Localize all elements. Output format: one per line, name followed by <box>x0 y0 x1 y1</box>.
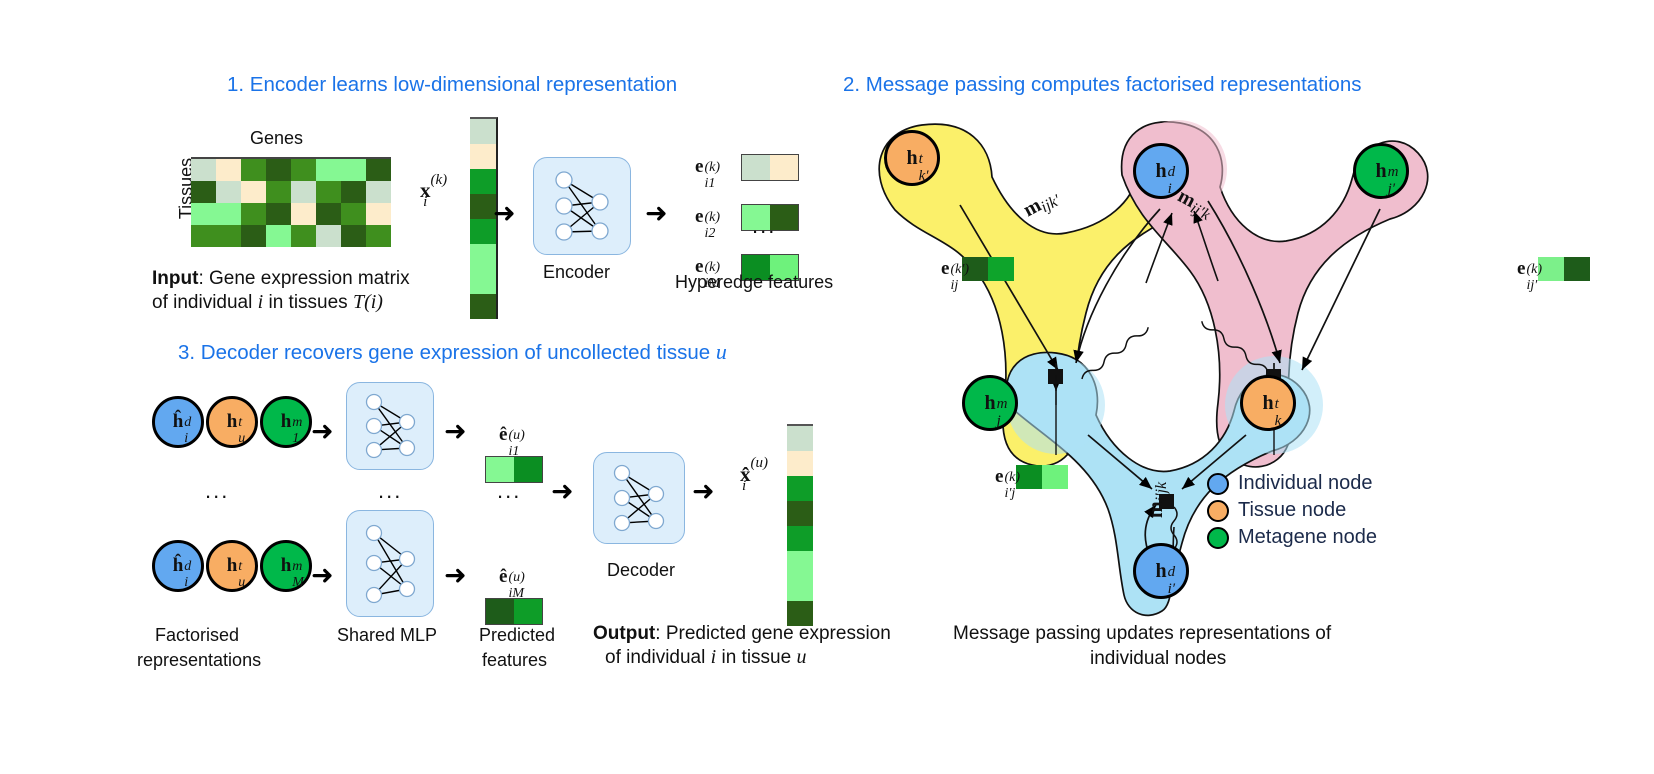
edge-feature-1: e(k)ij′ <box>1517 257 1590 281</box>
message-label-iprime-jk: mi′jk <box>1145 482 1168 518</box>
math-sup: t <box>238 415 242 431</box>
math-label: ĥdi <box>173 555 184 577</box>
math-base: h <box>227 555 238 576</box>
math-base: h <box>1155 560 1166 582</box>
factorised-label-line1: Factorised <box>155 625 239 646</box>
output-vector-label: x̂(u)i <box>740 462 772 487</box>
legend-swatch-2 <box>1207 527 1229 549</box>
input-vector-sub: i <box>423 194 427 211</box>
math-sup: m <box>292 559 302 575</box>
input-caption-line1: Input: Gene expression matrix <box>152 268 410 290</box>
output-vector-cell <box>787 426 813 451</box>
math-base: e <box>695 206 703 227</box>
input-caption-line2: of individual i in tissues T(i) <box>152 291 383 314</box>
input-vector-cell <box>470 169 496 194</box>
matrix-cell <box>291 181 316 203</box>
math-sub: ij <box>950 278 958 294</box>
decoder-node-d-i: ĥdi <box>152 540 204 592</box>
math-base: h <box>281 555 292 576</box>
math-base: ê <box>499 424 507 445</box>
gene-expression-matrix <box>191 157 391 247</box>
math-sub: i <box>184 431 188 447</box>
matrix-cell <box>266 159 291 181</box>
hyperedge-label-1: e(k)i1 <box>695 156 729 178</box>
matrix-cell <box>341 225 366 247</box>
output-caption-l2b: in tissue <box>721 647 791 668</box>
math-sup: m <box>997 396 1008 413</box>
math-base: ĥ <box>173 555 184 576</box>
matrix-cell <box>216 225 241 247</box>
edge-feature-label-2: e(k)i′j <box>995 466 1003 488</box>
arrow-row1-to-mlp: ➜ <box>311 418 334 445</box>
math-sub: i′j <box>1004 486 1015 502</box>
edge-feature-cell <box>1564 257 1590 281</box>
predicted-features-row-1: ê(u)i1 <box>485 424 543 483</box>
edge-feature-vector-1 <box>1538 257 1590 281</box>
matrix-cell <box>241 181 266 203</box>
edge-feature-vector-2 <box>1016 465 1068 489</box>
decoder-node-t-u: htu <box>206 396 258 448</box>
matrix-cell <box>266 225 291 247</box>
input-caption-l2b: in tissues <box>268 292 347 313</box>
decoder-node-m-1: hm1 <box>260 396 312 448</box>
math-sup: (k) <box>1526 262 1542 278</box>
math-label: hdi <box>1155 160 1166 183</box>
output-vector-cell <box>787 501 813 526</box>
panel-2-caption-line2: individual nodes <box>1090 648 1226 670</box>
math-base: h <box>1375 160 1386 182</box>
node-metagene-j: hmj <box>962 375 1018 431</box>
panel-3-title-var: u <box>716 339 727 364</box>
matrix-cell <box>241 225 266 247</box>
math-sup: (u) <box>508 428 524 444</box>
matrix-cell <box>216 159 241 181</box>
math-sup: (k′) <box>950 262 969 278</box>
input-caption-bold: Input <box>152 268 198 289</box>
input-vector-label: x(k)i <box>420 178 451 203</box>
math-label: htu <box>227 555 238 577</box>
math-sup: m <box>1388 164 1399 181</box>
math-sup: d <box>184 559 191 575</box>
math-base: ê <box>499 566 507 587</box>
edge-feature-label-0: e(k′)ij <box>941 258 949 280</box>
math-sub: u <box>238 575 245 591</box>
math-base: e <box>1517 258 1525 279</box>
math-sub: i2 <box>704 226 715 242</box>
math-sup: t <box>1275 396 1279 413</box>
matrix-cell <box>216 203 241 225</box>
math-sub: i1 <box>508 444 519 460</box>
hyperedge-ellipsis: ... <box>752 213 776 239</box>
msg2-sub: i′jk <box>1153 482 1170 502</box>
matrix-cell <box>216 181 241 203</box>
arrow-mlp-to-pred-1: ➜ <box>444 418 467 445</box>
math-sup: (k) <box>704 160 720 176</box>
math-base: h <box>906 147 917 169</box>
hyperedge-features-group: e(k)i1e(k)i2e(k)iM <box>695 142 799 292</box>
math-sup: t <box>238 559 242 575</box>
hyperedge-cell <box>770 155 798 180</box>
math-label: htk <box>1262 392 1273 415</box>
decoder-node-t-u: htu <box>206 540 258 592</box>
matrix-cell <box>191 225 216 247</box>
matrix-cell <box>316 225 341 247</box>
math-sub: u <box>238 431 245 447</box>
output-vector-cell <box>787 576 813 601</box>
matrix-cell <box>191 159 216 181</box>
math-sub: k <box>1275 413 1282 430</box>
shared-mlp-box-row-1 <box>346 382 434 470</box>
math-sup: d <box>184 415 191 431</box>
math-base: e <box>695 156 703 177</box>
math-sup: (k) <box>704 210 720 226</box>
arrow-row2-to-mlp: ➜ <box>311 562 334 589</box>
matrix-cell <box>291 225 316 247</box>
legend-item-2: Metagene node <box>1207 524 1377 551</box>
decoder-pred-ellipsis: ... <box>497 478 521 504</box>
matrix-cell <box>316 203 341 225</box>
encoder-mlp-box <box>533 157 631 255</box>
shared-mlp-box-row-2 <box>346 510 434 617</box>
math-sup: (u) <box>508 570 524 586</box>
output-vector-cell <box>787 476 813 501</box>
figure-canvas: 1. Encoder learns low-dimensional repres… <box>0 0 1654 774</box>
math-sub: i1 <box>704 176 715 192</box>
output-caption-u: u <box>796 646 806 668</box>
shared-mlp-label: Shared MLP <box>337 625 437 646</box>
legend-item-0: Individual node <box>1207 470 1377 497</box>
math-sub: j′ <box>1388 181 1395 198</box>
panel-3-title-text: 3. Decoder recovers gene expression of u… <box>178 341 710 364</box>
panel-2-caption-line1: Message passing updates representations … <box>953 623 1331 645</box>
matrix-cell <box>266 181 291 203</box>
math-sup: t <box>919 151 923 168</box>
arrow-mlp-to-pred-2: ➜ <box>444 562 467 589</box>
output-vector-cell <box>787 451 813 476</box>
input-caption-rest: : Gene expression matrix <box>198 268 409 289</box>
math-base: e <box>995 466 1003 487</box>
math-sup: d <box>1168 164 1176 181</box>
encoder-label: Encoder <box>543 262 610 283</box>
math-base: h <box>227 411 238 432</box>
factorised-label-line2: representations <box>137 650 261 671</box>
panel-2-title: 2. Message passing computes factorised r… <box>843 73 1361 97</box>
math-label: ĥdi <box>173 411 184 433</box>
output-caption-line2: of individual i in tissue u <box>605 646 806 669</box>
matrix-cell <box>341 181 366 203</box>
edge-feature-cell <box>988 257 1014 281</box>
decoder-mlp-ellipsis: ... <box>378 478 402 504</box>
input-vector-cell <box>470 269 496 294</box>
math-base: ĥ <box>173 411 184 432</box>
math-sub: ij′ <box>1526 278 1537 294</box>
matrix-cell <box>316 159 341 181</box>
matrix-cell <box>366 181 391 203</box>
math-label: hmj′ <box>1375 160 1386 183</box>
output-vector <box>787 424 813 626</box>
math-sub: M <box>292 575 304 591</box>
hyperedge-feature-row: e(k)i2 <box>695 192 799 242</box>
output-caption-bold: Output <box>593 623 655 644</box>
math-label: hm1 <box>281 411 292 433</box>
legend-swatch-0 <box>1207 473 1229 495</box>
decoder-nodes-ellipsis: ... <box>205 478 229 504</box>
input-vector-cell <box>470 144 496 169</box>
matrix-cell <box>341 159 366 181</box>
predicted-label-1: ê(u)i1 <box>499 424 543 446</box>
output-caption-i: i <box>711 646 717 668</box>
matrix-row <box>191 159 391 181</box>
matrix-cell <box>241 203 266 225</box>
math-label: htk′ <box>906 147 917 170</box>
predicted-label-2: ê(u)iM <box>499 566 543 588</box>
math-sup: m <box>292 415 302 431</box>
edge-feature-cell <box>1042 465 1068 489</box>
input-vector-sup: (k) <box>431 172 448 189</box>
node-tissue-k: htk <box>1240 375 1296 431</box>
predicted-features-row-2: ê(u)iM <box>485 566 543 625</box>
matrix-cell <box>191 181 216 203</box>
arrow-to-decoder: ➜ <box>551 478 574 505</box>
matrix-row <box>191 181 391 203</box>
math-label: htu <box>227 411 238 433</box>
arrow-decoder-to-output: ➜ <box>692 478 715 505</box>
math-sub: 1 <box>292 431 299 447</box>
hyperedge-vector-1 <box>741 154 799 181</box>
legend-label-0: Individual node <box>1238 472 1373 495</box>
decoder-node-d-i: ĥdi <box>152 396 204 448</box>
matrix-cell <box>366 159 391 181</box>
matrix-top-label: Genes <box>250 128 303 149</box>
matrix-cell <box>316 181 341 203</box>
input-vector-cell <box>470 119 496 144</box>
panel-1-title: 1. Encoder learns low-dimensional repres… <box>227 73 677 97</box>
output-vector-sub: i <box>742 478 746 495</box>
legend-item-1: Tissue node <box>1207 497 1377 524</box>
output-vector-sup: (u) <box>751 455 769 472</box>
hyperedge-feature-row: e(k)i1 <box>695 142 799 192</box>
matrix-cell <box>241 159 266 181</box>
output-caption-l2a: of individual <box>605 647 705 668</box>
math-sub: i <box>1168 181 1172 198</box>
predicted-label-line2: features <box>482 650 547 671</box>
node-metagene-j-prime: hmj′ <box>1353 143 1409 199</box>
matrix-cell <box>291 159 316 181</box>
output-caption-rest: : Predicted gene expression <box>655 623 891 644</box>
math-sub: iM <box>508 586 524 602</box>
hyperedge-label-2: e(k)i2 <box>695 206 729 228</box>
math-base: e <box>941 258 949 279</box>
math-sub: k′ <box>919 168 929 185</box>
output-caption-line1: Output: Predicted gene expression <box>593 623 891 645</box>
arrow-to-encoder: ➜ <box>493 200 516 227</box>
decoder-node-m-M: hmM <box>260 540 312 592</box>
matrix-cell <box>341 203 366 225</box>
output-vector-cell <box>787 551 813 576</box>
math-base: h <box>1262 392 1273 414</box>
input-vector-cell <box>470 244 496 269</box>
predicted-label-line1: Predicted <box>479 625 555 646</box>
edge-feature-2: e(k)i′j <box>995 465 1068 489</box>
matrix-cell <box>291 203 316 225</box>
matrix-row <box>191 225 391 247</box>
input-caption-l2a: of individual <box>152 292 252 313</box>
edge-feature-0: e(k′)ij <box>941 257 1014 281</box>
math-base: h <box>984 392 995 414</box>
matrix-row <box>191 203 391 225</box>
edge-feature-label-1: e(k)ij′ <box>1517 258 1525 280</box>
math-sup: d <box>1168 564 1176 581</box>
math-label: hmj <box>984 392 995 415</box>
math-base: h <box>1155 160 1166 182</box>
panel-3-title: 3. Decoder recovers gene expression of u… <box>178 339 727 365</box>
edge-feature-vector-0 <box>962 257 1014 281</box>
math-sub: i′ <box>1168 581 1175 598</box>
legend: Individual nodeTissue nodeMetagene node <box>1207 470 1377 551</box>
input-vector-cell <box>470 294 496 319</box>
math-sub: i <box>184 575 188 591</box>
hyperedge-cell <box>742 155 770 180</box>
arrow-to-hyperedges: ➜ <box>645 200 668 227</box>
input-caption-i: i <box>258 291 264 313</box>
msg2-base: m <box>1145 501 1167 518</box>
predicted-cell <box>486 599 514 624</box>
decoder-label: Decoder <box>607 560 675 581</box>
matrix-cell <box>191 203 216 225</box>
decoder-mlp-box <box>593 452 685 544</box>
input-caption-tissue-set: T(i) <box>353 291 383 313</box>
math-label: hdi′ <box>1155 560 1166 583</box>
math-label: hmM <box>281 555 292 577</box>
legend-swatch-1 <box>1207 500 1229 522</box>
edge-feature-cell <box>1016 465 1042 489</box>
math-base: h <box>281 411 292 432</box>
factorised-nodes-row-2: ĥdihtuhmM <box>152 540 312 592</box>
legend-label-2: Metagene node <box>1238 526 1377 549</box>
matrix-cell <box>366 225 391 247</box>
node-individual-i-prime: hdi′ <box>1133 543 1189 599</box>
predicted-cell <box>514 599 542 624</box>
matrix-cell <box>366 203 391 225</box>
hyperedge-features-label: Hyperedge features <box>675 272 833 293</box>
edge-feature-cell <box>1538 257 1564 281</box>
legend-label-1: Tissue node <box>1238 499 1346 522</box>
math-sup: (k) <box>1004 470 1020 486</box>
math-sub: j <box>997 413 1001 430</box>
node-tissue-k-prime: htk′ <box>884 130 940 186</box>
output-vector-cell <box>787 526 813 551</box>
matrix-cell <box>266 203 291 225</box>
factorised-nodes-row-1: ĥdihtuhm1 <box>152 396 312 448</box>
